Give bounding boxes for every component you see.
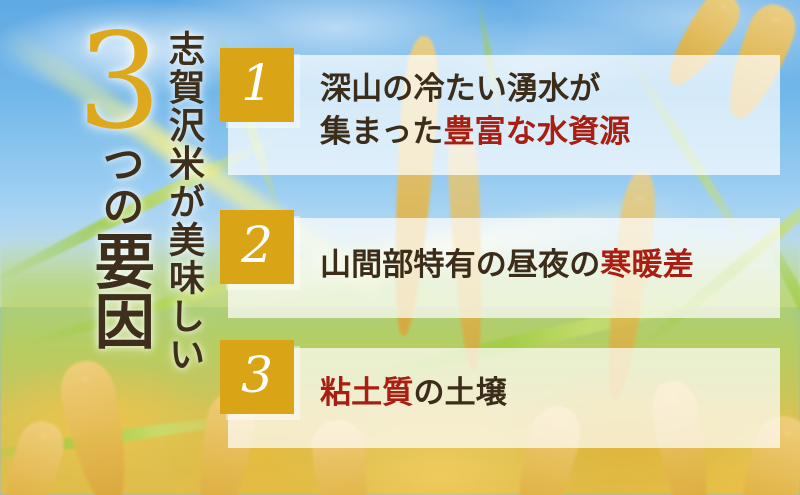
factor-1-line1-plain: 深山の冷たい湧水が: [320, 71, 600, 107]
factor-2-line1-plain: 山間部特有の昼夜の: [320, 247, 600, 283]
promo-banner: 志賀沢米が美味しい 3 つの 要因 1 深山の冷たい湧水が 集まった豊富な水資源…: [0, 0, 800, 495]
factor-1-line2-accent: 豊富な水資源: [443, 114, 630, 150]
factor-text-2: 山間部特有の昼夜の寒暖差: [320, 244, 790, 287]
headline-noun: 要因: [89, 230, 149, 350]
factor-text-1-line-2: 集まった豊富な水資源: [320, 111, 790, 154]
factor-badge-3: 3: [220, 340, 294, 414]
factor-badge-1: 1: [220, 48, 294, 122]
factor-text-1: 深山の冷たい湧水が 集まった豊富な水資源: [320, 68, 790, 154]
headline-count-group: 3 つの 要因: [77, 18, 161, 350]
factor-text-1-line-1: 深山の冷たい湧水が: [320, 68, 790, 111]
factor-1-line2-plain: 集まった: [320, 114, 443, 150]
factor-2-line1-accent: 寒暖差: [600, 247, 693, 283]
factor-3-line1-plain: の土壌: [413, 375, 506, 411]
vertical-headline: 志賀沢米が美味しい 3 つの 要因: [0, 0, 210, 495]
factor-3-line1-accent: 粘土質: [320, 375, 413, 411]
factor-badge-2: 2: [220, 210, 294, 284]
headline-counter: つの: [98, 142, 141, 228]
headline-phrase: 志賀沢米が美味しい: [165, 30, 202, 373]
headline-numeral: 3: [77, 28, 161, 136]
factor-text-3: 粘土質の土壌: [320, 372, 790, 415]
